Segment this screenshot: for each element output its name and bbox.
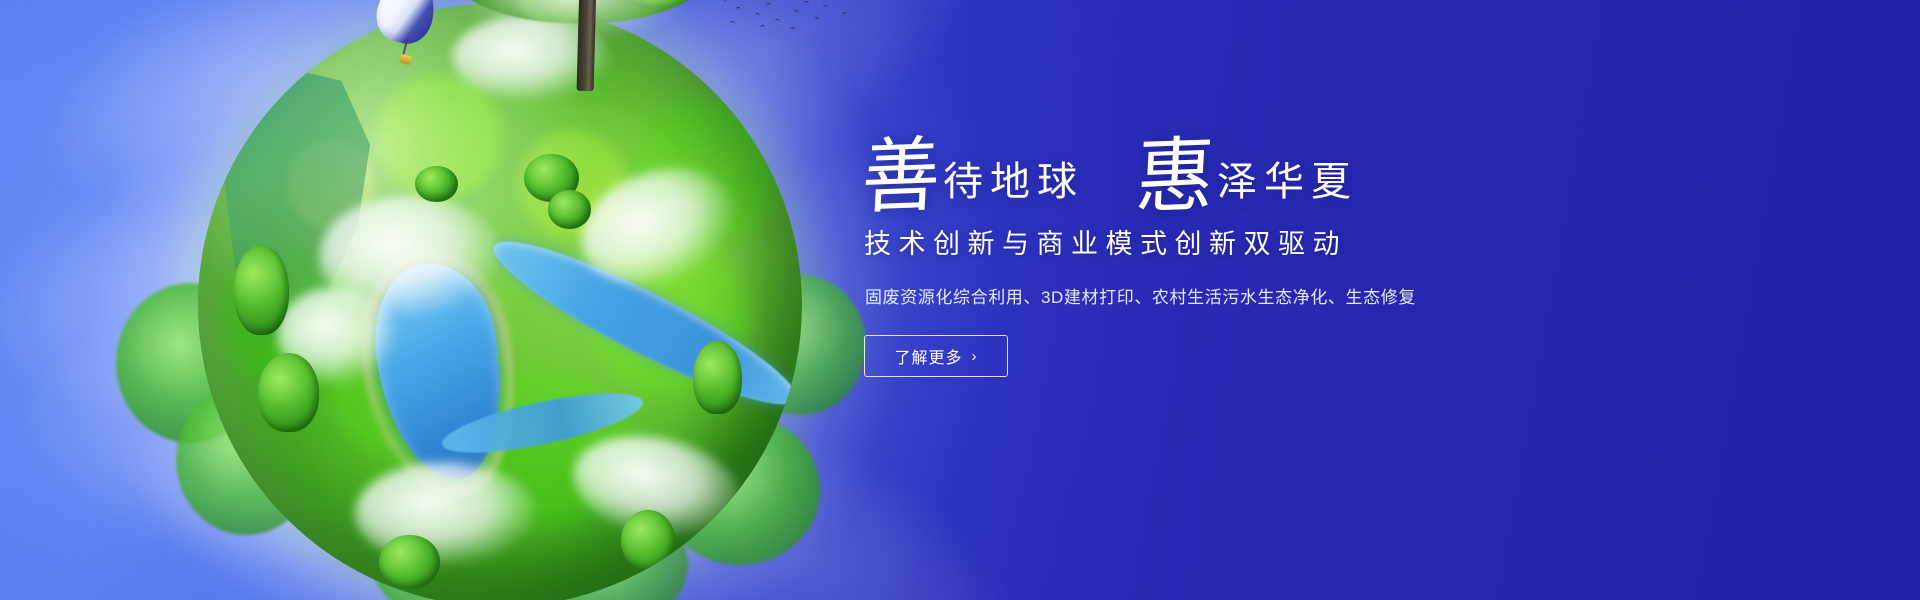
tree-mist bbox=[466, 0, 676, 37]
description: 固废资源化综合利用、3D建材打印、农村生活污水生态净化、生态修复 bbox=[865, 283, 1562, 308]
hero-text-block: 善 待地球 惠 泽华夏 技术创新与商业模式创新双驱动 固废资源化综合利用、3D建… bbox=[862, 118, 1562, 377]
balloon-basket bbox=[399, 54, 412, 65]
shrub-cluster bbox=[415, 166, 457, 202]
headline-dai-di-qiu: 待地球 bbox=[943, 162, 1084, 202]
learn-more-label: 了解更多 bbox=[894, 344, 962, 368]
hero-banner: 善 待地球 惠 泽华夏 技术创新与商业模式创新双驱动 固废资源化综合利用、3D建… bbox=[0, 0, 1920, 600]
hero-tree bbox=[430, 0, 730, 83]
headline-char-shan: 善 bbox=[860, 135, 944, 220]
shrub-cluster bbox=[234, 245, 288, 336]
learn-more-button[interactable]: 了解更多 › bbox=[864, 335, 1008, 377]
shrub-cluster bbox=[621, 510, 675, 570]
shrub-cluster bbox=[693, 341, 741, 413]
headline-ze-hua-xia: 泽华夏 bbox=[1217, 162, 1358, 202]
shrub-cluster bbox=[548, 190, 590, 229]
headline: 善 待地球 惠 泽华夏 bbox=[862, 118, 1562, 210]
green-earth-sphere bbox=[198, 3, 802, 600]
shrub-cluster bbox=[379, 535, 439, 589]
shrub-cluster bbox=[258, 353, 318, 432]
headline-char-hui: 惠 bbox=[1134, 135, 1218, 220]
chevron-right-icon: › bbox=[972, 349, 978, 364]
bird-flock-icon bbox=[722, 0, 852, 37]
hot-air-balloon-icon bbox=[378, 0, 434, 69]
globe-illustration bbox=[140, 0, 860, 600]
subtitle: 技术创新与商业模式创新双驱动 bbox=[864, 222, 1562, 261]
tree-trunk bbox=[577, 0, 597, 91]
